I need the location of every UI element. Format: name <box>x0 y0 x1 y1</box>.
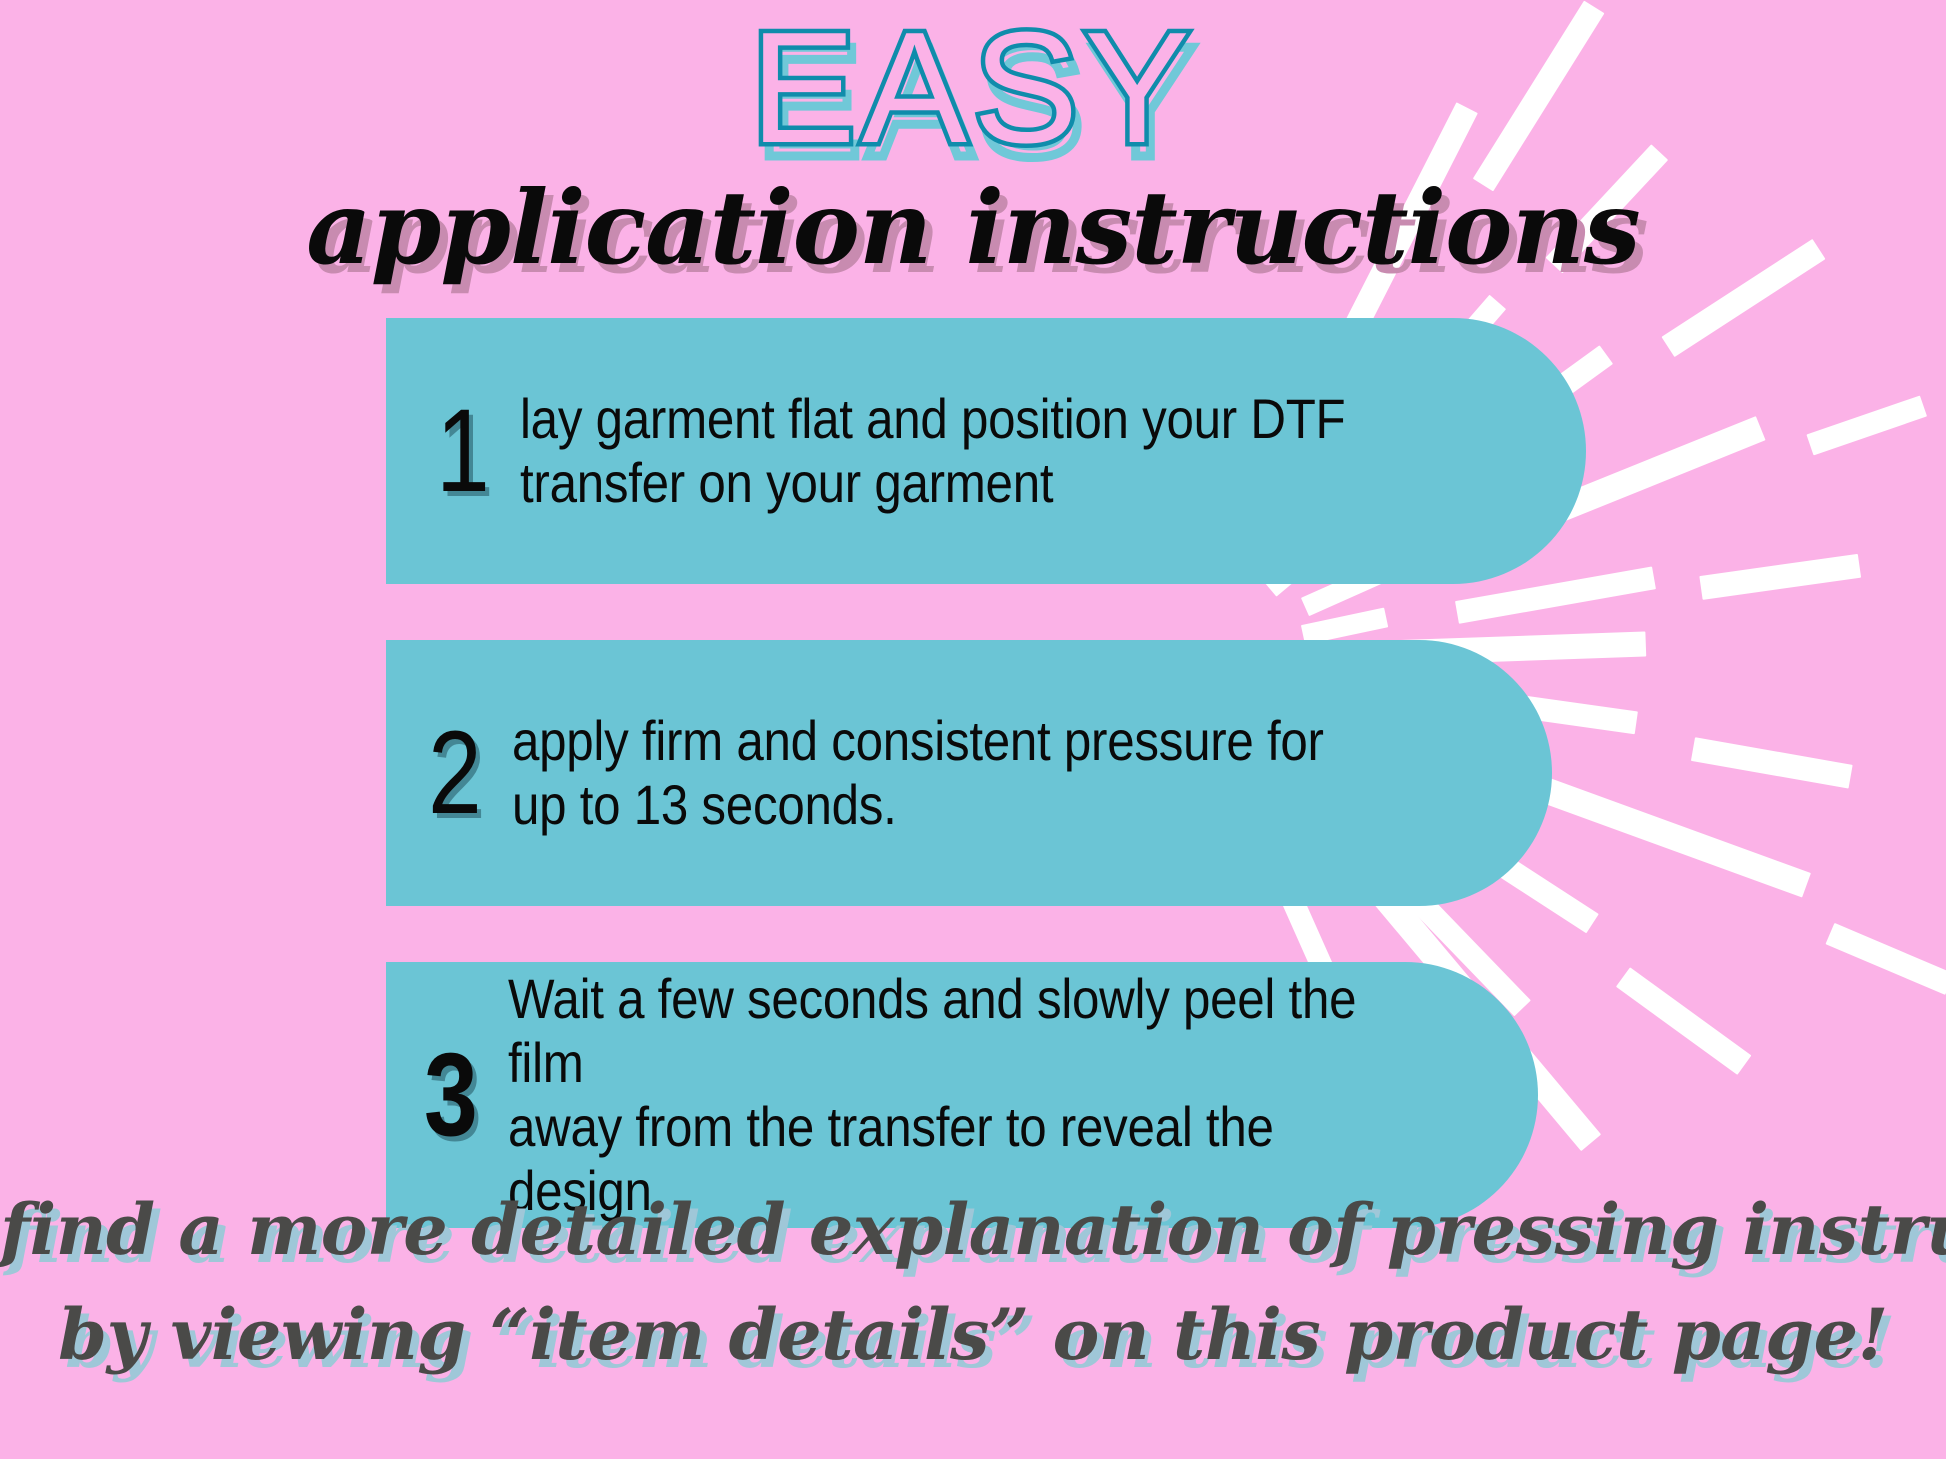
sunburst-ray <box>1699 553 1861 599</box>
page-subtitle: application instructions <box>0 172 1946 292</box>
sunburst-ray <box>1616 968 1751 1076</box>
step-number-1: 1 <box>436 396 490 506</box>
footer-note-line-1: find a more detailed explanation of pres… <box>0 1177 1946 1282</box>
page-title-easy: EASY EASY EASY <box>0 8 1946 168</box>
instruction-step-card-1: 1 lay garment flat and position your DTF… <box>386 318 1586 584</box>
page-subtitle-text: application instructions <box>306 168 1639 287</box>
sunburst-ray <box>1806 396 1927 456</box>
footer-note: find a more detailed explanation of pres… <box>0 1177 1946 1387</box>
step-number-3: 3 <box>424 1040 478 1150</box>
title-easy-fill-layer: EASY <box>0 8 1946 168</box>
step-text-2: apply firm and consistent pressure for u… <box>512 709 1324 837</box>
instruction-steps-list: 1 lay garment flat and position your DTF… <box>386 318 1598 1284</box>
poster-canvas: EASY EASY EASY application instructions … <box>0 0 1946 1459</box>
sunburst-ray <box>1691 738 1853 789</box>
step-number-2: 2 <box>428 718 482 828</box>
footer-note-line-2: by viewing “item details” on this produc… <box>0 1282 1946 1387</box>
sunburst-ray <box>1826 923 1946 995</box>
step-text-1: lay garment flat and position your DTF t… <box>520 387 1345 515</box>
instruction-step-card-2: 2 apply firm and consistent pressure for… <box>386 640 1552 906</box>
